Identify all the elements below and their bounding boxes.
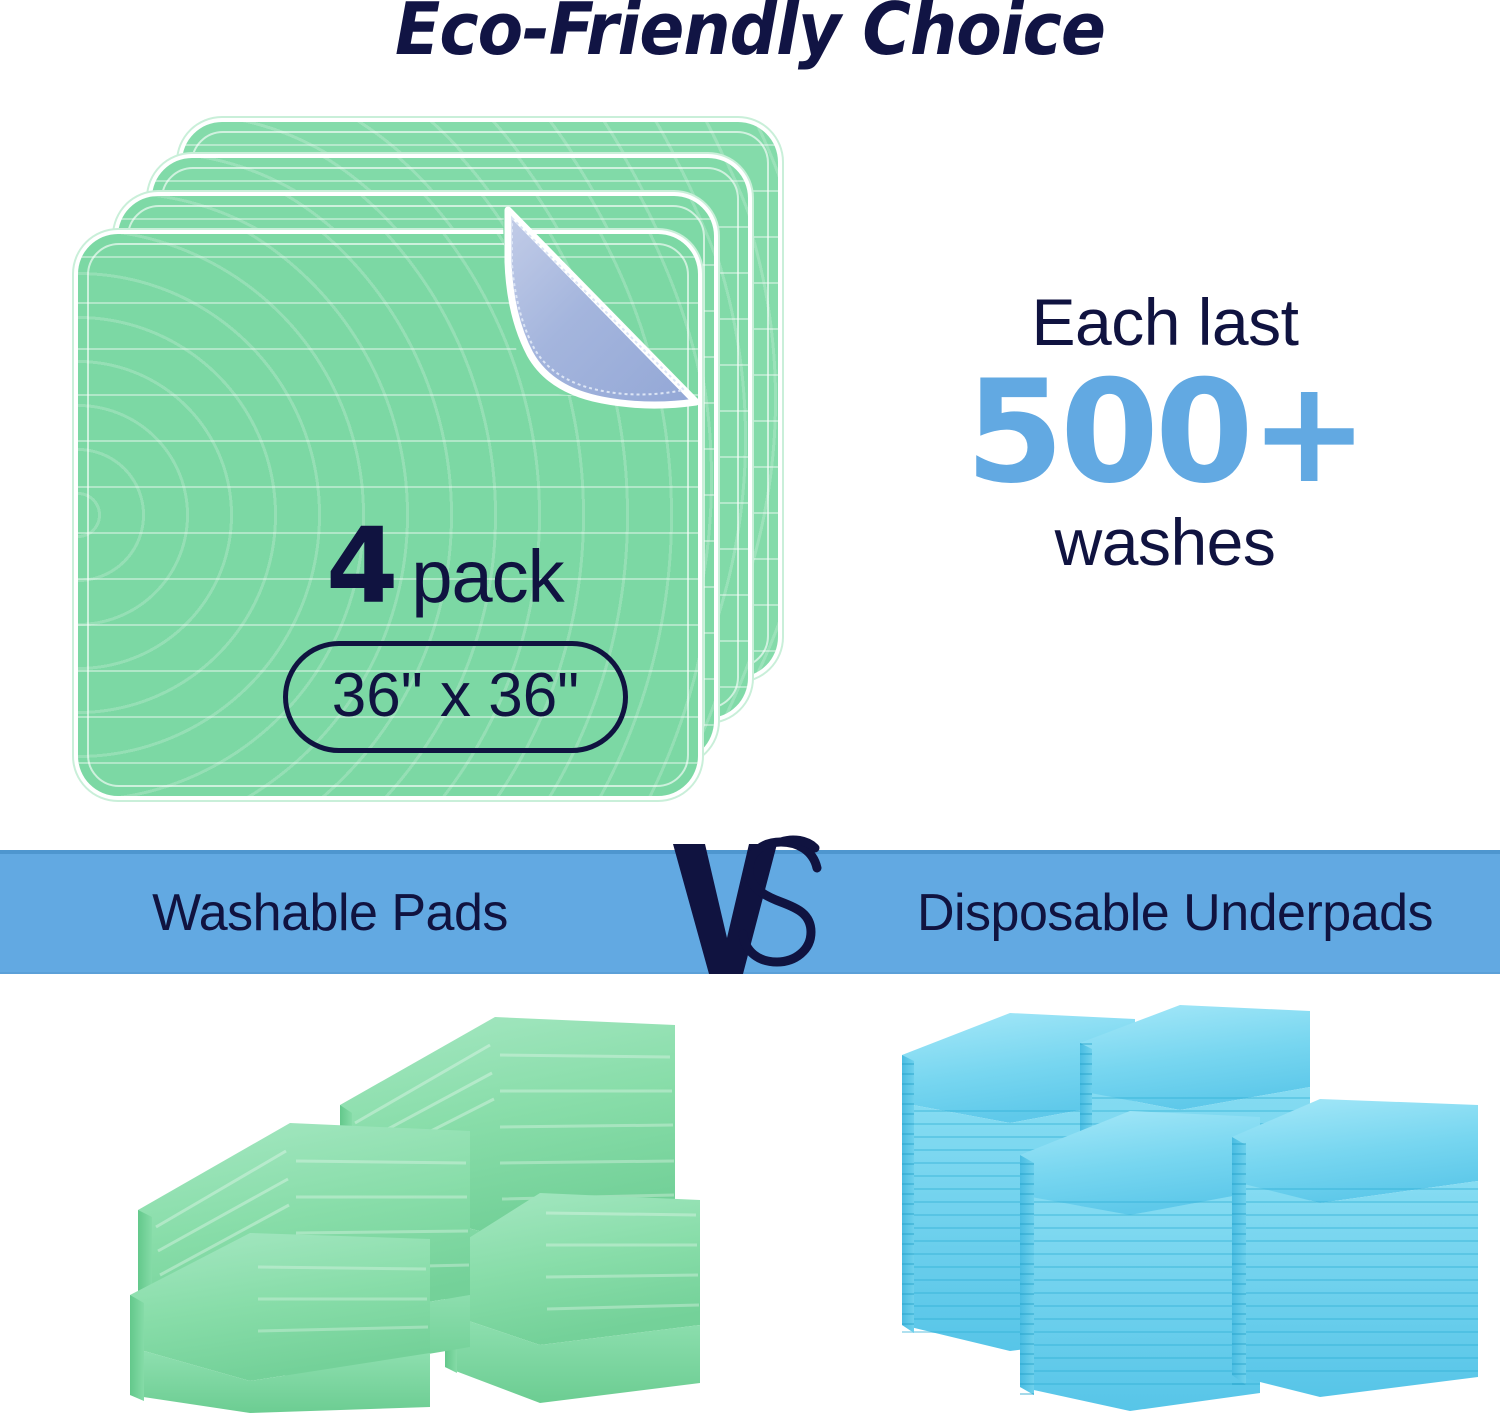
comparison-right-label: Disposable Underpads <box>917 883 1433 943</box>
comparison-left-header: Washable Pads <box>0 854 660 972</box>
washable-pad-stack-image: 4 pack 36" x 36" <box>78 122 778 787</box>
versus-icon <box>665 834 845 984</box>
size-badge-label: 36" x 36" <box>332 660 579 731</box>
durability-claim: Each last 500+ washes <box>930 288 1400 577</box>
comparison-banner: Washable Pads Disposable Underpads <box>0 850 1500 974</box>
comparison-left-label: Washable Pads <box>152 883 508 943</box>
claim-line-1: Each last <box>930 288 1400 357</box>
comparison-right-header: Disposable Underpads <box>850 854 1500 972</box>
pack-count-label: 4 pack <box>326 520 564 614</box>
underpad-stack <box>1232 1099 1478 1397</box>
pack-count-number: 4 <box>326 520 395 614</box>
disposable-underpad-stacks-photo <box>880 995 1500 1415</box>
claim-line-2: washes <box>930 508 1400 577</box>
claim-wash-count: 500+ <box>930 361 1400 506</box>
pack-count-word: pack <box>411 544 563 611</box>
underpad-stack <box>1020 1111 1260 1411</box>
folded-washable-pads-photo <box>100 995 740 1415</box>
page-title: Eco-Friendly Choice <box>60 0 1440 68</box>
size-badge: 36" x 36" <box>283 641 628 753</box>
